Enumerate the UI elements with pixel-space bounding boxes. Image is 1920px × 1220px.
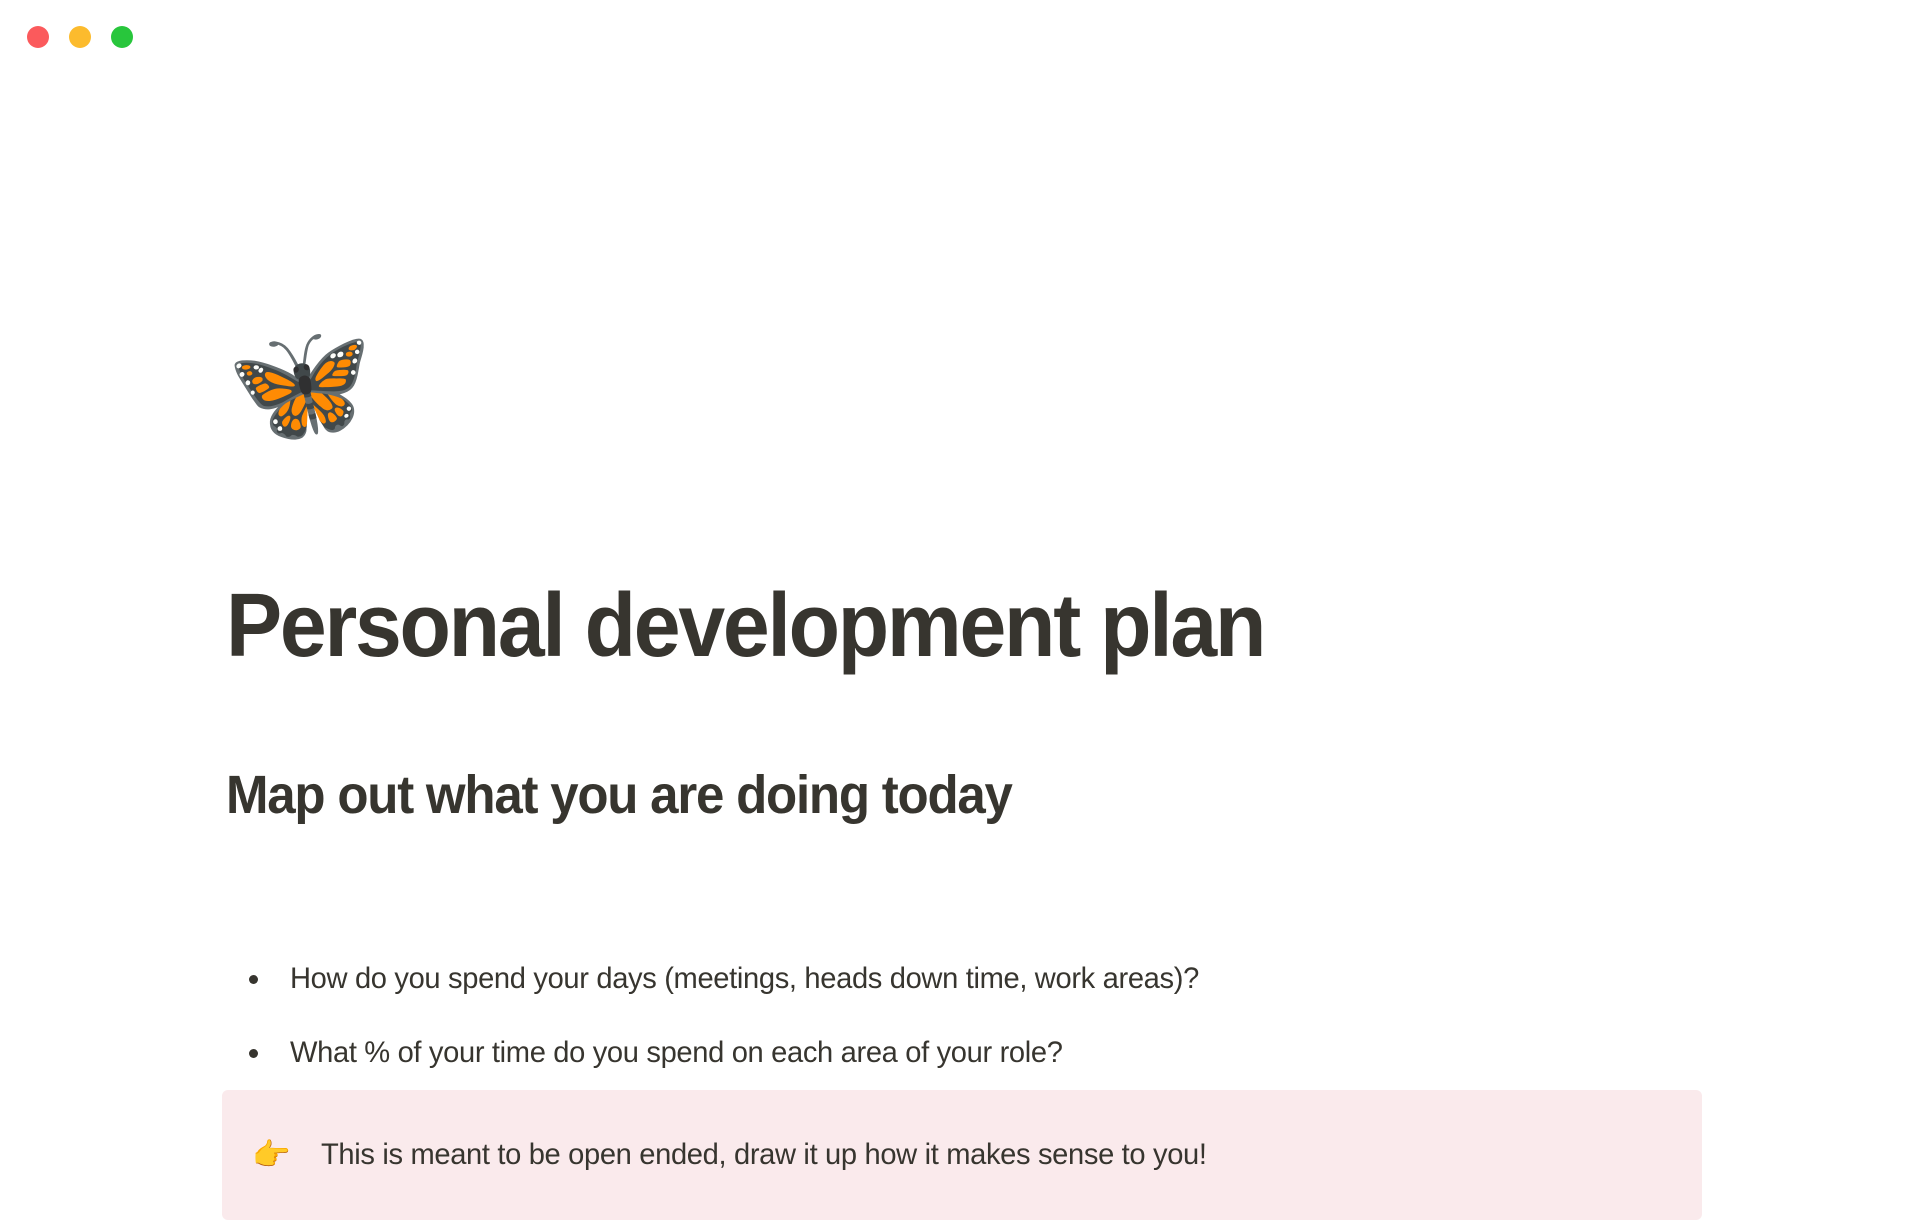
document-canvas: 🦋 Personal development plan Map out what… (0, 74, 1920, 1200)
minimize-window-button[interactable] (69, 26, 91, 48)
window-titlebar (0, 0, 1920, 74)
list-item-label: How do you spend your days (meetings, he… (290, 962, 1199, 996)
list-item[interactable]: How do you spend your days (meetings, he… (226, 942, 1706, 1016)
pointing-right-emoji: 👉 (252, 1140, 291, 1171)
maximize-window-button[interactable] (111, 26, 133, 48)
traffic-light-controls (27, 26, 133, 48)
bullet-point-icon (249, 1049, 258, 1058)
list-item[interactable]: What % of your time do you spend on each… (226, 1016, 1706, 1090)
callout-block[interactable]: 👉 This is meant to be open ended, draw i… (222, 1090, 1702, 1220)
close-window-button[interactable] (27, 26, 49, 48)
list-item-label: What % of your time do you spend on each… (290, 1036, 1063, 1070)
page-title[interactable]: Personal development plan (226, 579, 1264, 674)
app-window: 🦋 Personal development plan Map out what… (0, 0, 1920, 1200)
butterfly-emoji[interactable]: 🦋 (226, 324, 373, 442)
section-heading[interactable]: Map out what you are doing today (226, 766, 1012, 825)
callout-text: This is meant to be open ended, draw it … (321, 1138, 1207, 1172)
bullet-point-icon (249, 975, 258, 984)
